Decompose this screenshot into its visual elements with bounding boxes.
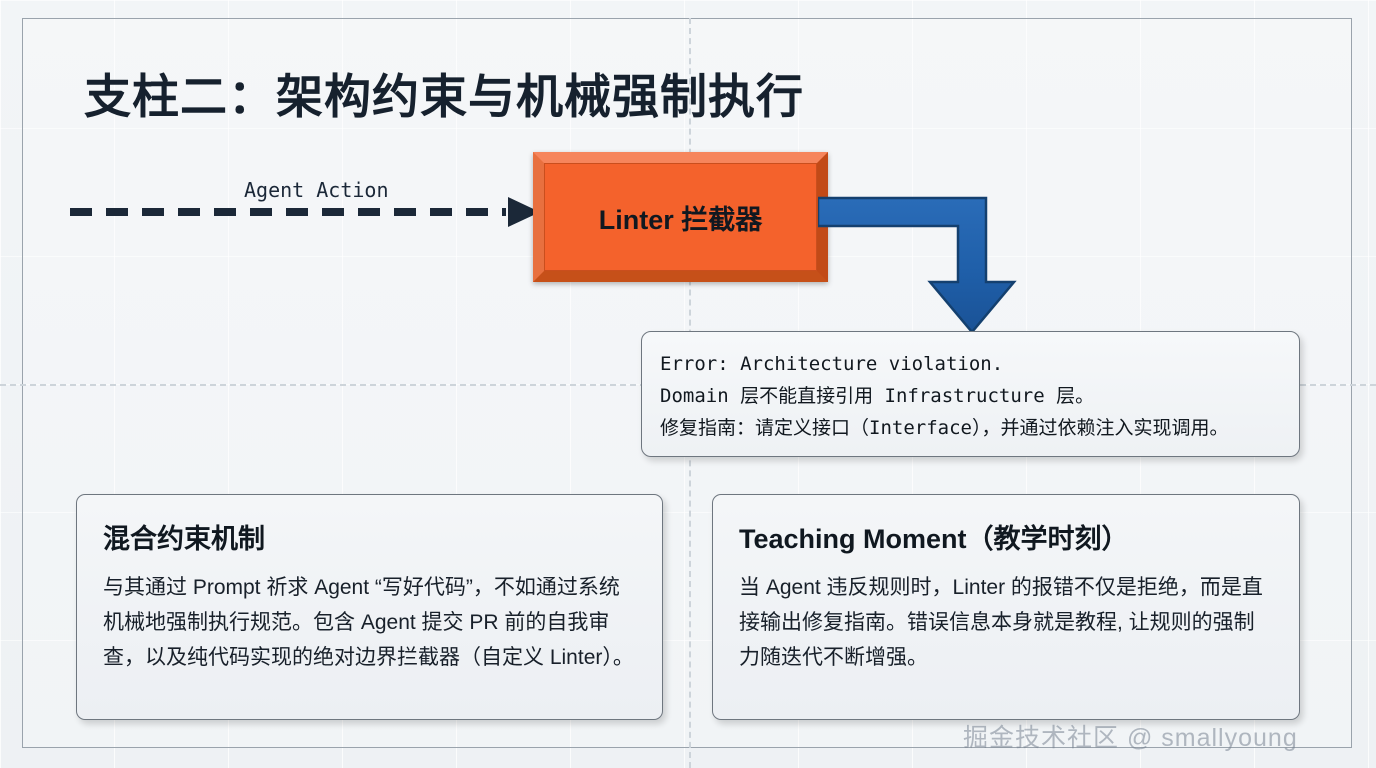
page-title: 支柱二：架构约束与机械强制执行 xyxy=(84,58,804,127)
info-card-body: 与其通过 Prompt 祈求 Agent “写好代码”，不如通过系统机械地强制执… xyxy=(103,570,636,675)
info-card-teaching-moment: Teaching Moment（教学时刻） 当 Agent 违反规则时，Lint… xyxy=(712,494,1300,720)
watermark: 掘金技术社区 @ smallyoung xyxy=(963,718,1298,754)
info-card-hybrid-constraint: 混合约束机制 与其通过 Prompt 祈求 Agent “写好代码”，不如通过系… xyxy=(76,494,663,720)
error-line: 修复指南：请定义接口（Interface），并通过依赖注入实现调用。 xyxy=(660,412,1281,444)
linter-box-label: Linter 拦截器 xyxy=(599,198,763,237)
dashed-arrow-right-icon xyxy=(68,196,538,228)
error-line: Error: Architecture violation. xyxy=(660,348,1281,380)
linter-box-inner: Linter 拦截器 xyxy=(544,163,817,271)
error-line: Domain 层不能直接引用 Infrastructure 层。 xyxy=(660,380,1281,412)
info-card-title: 混合约束机制 xyxy=(103,517,636,556)
slide-canvas: 支柱二：架构约束与机械强制执行 Agent Action Linter 拦截器 … xyxy=(0,0,1376,768)
elbow-arrow-down-icon xyxy=(818,192,1018,337)
error-message-callout: Error: Architecture violation. Domain 层不… xyxy=(641,331,1300,457)
linter-interceptor-box[interactable]: Linter 拦截器 xyxy=(533,152,828,282)
info-card-body: 当 Agent 违反规则时，Linter 的报错不仅是拒绝，而是直接输出修复指南… xyxy=(739,570,1273,675)
info-card-title: Teaching Moment（教学时刻） xyxy=(739,517,1273,556)
